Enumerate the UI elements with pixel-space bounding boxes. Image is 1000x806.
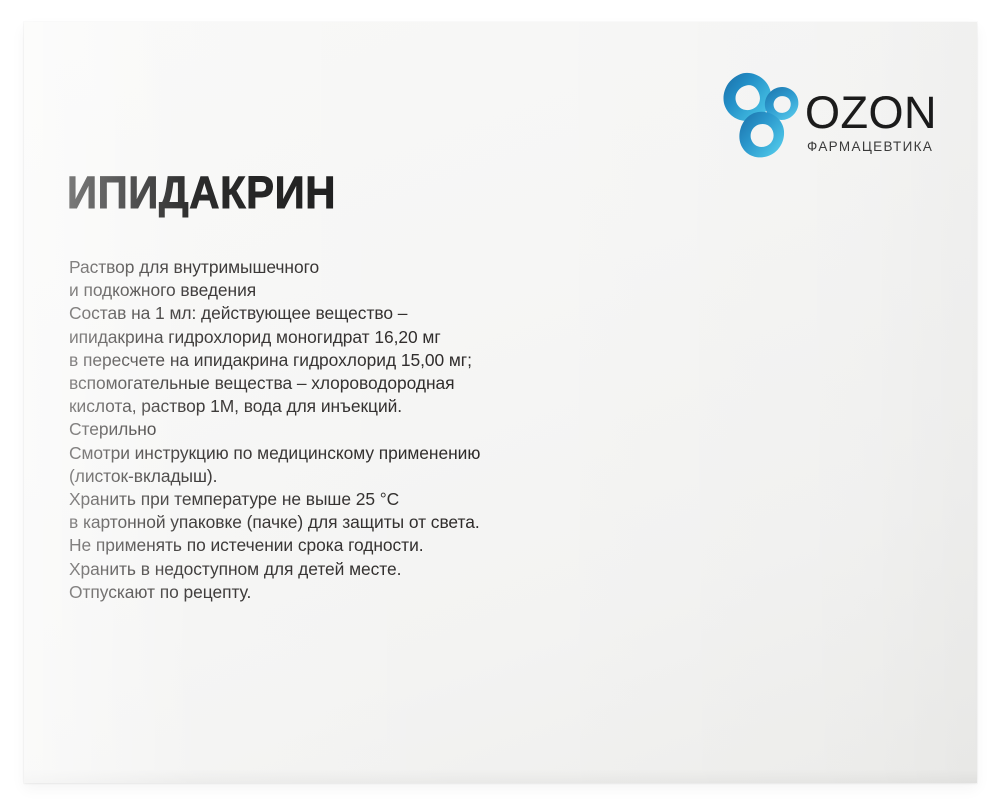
package-body-copy: Раствор для внутримышечного и подкожного… <box>69 256 629 604</box>
carton-bottom-fold <box>24 769 977 783</box>
ozon-logo-marks <box>719 72 809 164</box>
blob-ring-mid-icon <box>736 110 787 160</box>
copy-line: вспомогательные вещества – хлороводородн… <box>69 372 629 395</box>
brand-lockup: OZON ФАРМАЦЕВТИКА <box>719 56 934 188</box>
brand-wordmark: OZON <box>805 90 937 135</box>
brand-subtitle: ФАРМАЦЕВТИКА <box>805 139 937 154</box>
copy-line: ипидакрина гидрохлорид моногидрат 16,20 … <box>69 326 629 349</box>
copy-line: Состав на 1 мл: действующее вещество – <box>69 302 629 325</box>
product-title: ИПИДАКРИН <box>67 170 336 216</box>
medicine-package-front: OZON ФАРМАЦЕВТИКА ИПИДАКРИН Раствор для … <box>24 22 977 783</box>
copy-line: Стерильно <box>69 418 629 441</box>
copy-line: Хранить при температуре не выше 25 °C <box>69 488 629 511</box>
copy-line: Раствор для внутримышечного <box>69 256 629 279</box>
copy-line: (листок-вкладыш). <box>69 465 629 488</box>
copy-line: кислота, раствор 1М, вода для инъекций. <box>69 395 629 418</box>
copy-line: в картонной упаковке (пачке) для защиты … <box>69 511 629 534</box>
copy-line: Хранить в недоступном для детей месте. <box>69 558 629 581</box>
ozon-wordmark-block: OZON ФАРМАЦЕВТИКА <box>805 90 937 154</box>
copy-line: Отпускают по рецепту. <box>69 581 629 604</box>
copy-line: в пересчете на ипидакрина гидрохлорид 15… <box>69 349 629 372</box>
copy-line: Не применять по истечении срока годности… <box>69 534 629 557</box>
copy-line: и подкожного введения <box>69 279 629 302</box>
copy-line: Смотри инструкцию по медицинскому примен… <box>69 442 629 465</box>
